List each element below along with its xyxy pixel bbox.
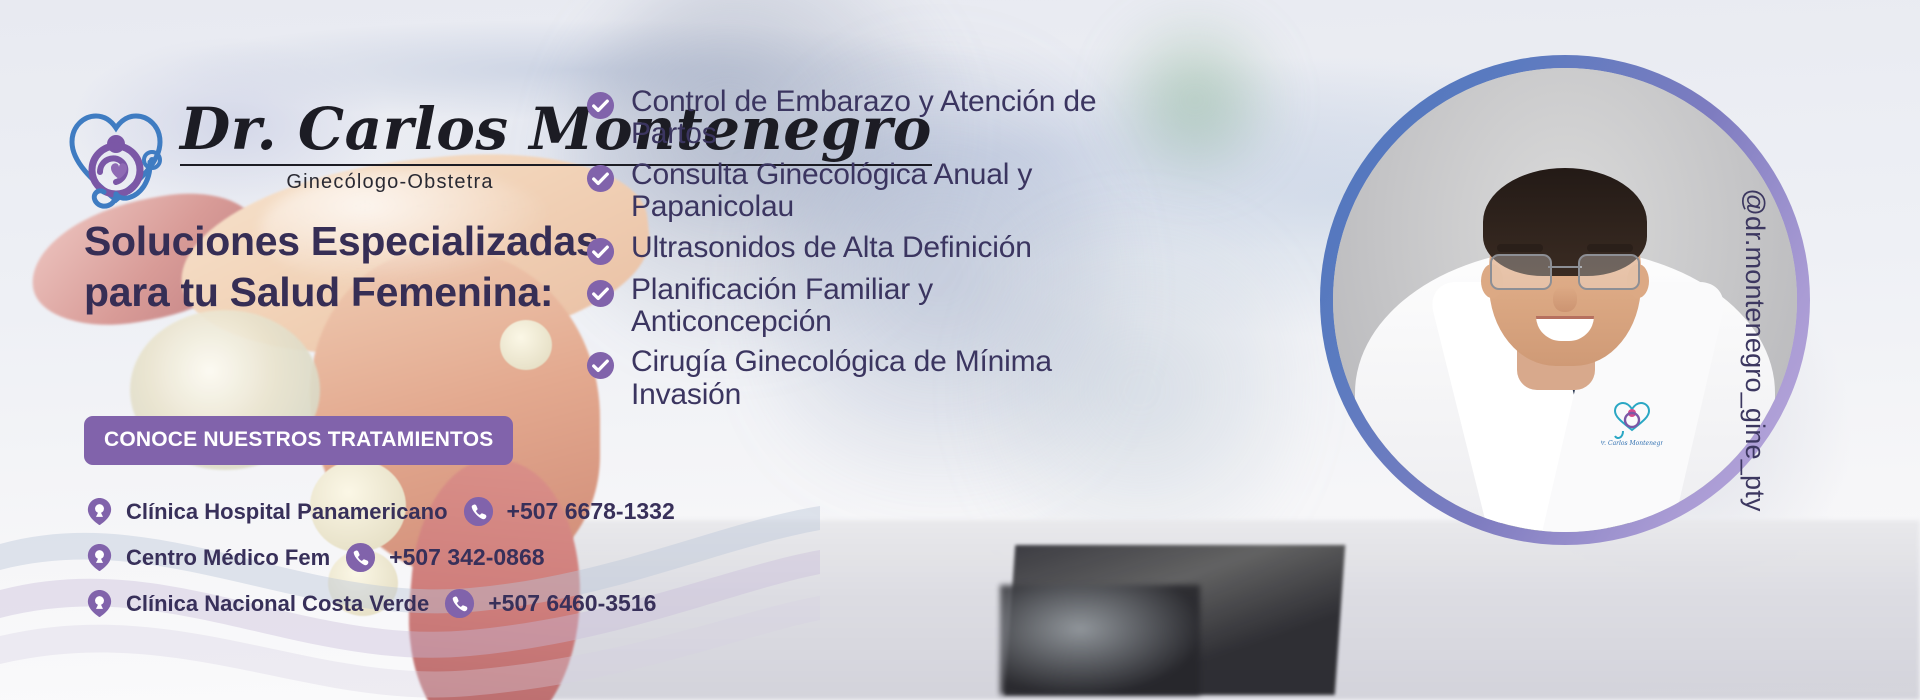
service-label: Cirugía Ginecológica de Mínima Invasión xyxy=(631,346,1126,411)
instagram-handle[interactable]: @dr.montenegro_gine_pty xyxy=(1739,188,1770,511)
contact-phone[interactable]: +507 6678-1332 xyxy=(507,498,675,525)
svg-text:Dr. Carlos Montenegro: Dr. Carlos Montenegro xyxy=(1601,440,1663,447)
contact-list: Clínica Hospital Panamericano +507 6678-… xyxy=(84,495,804,633)
heart-stethoscope-logo-icon xyxy=(62,102,170,214)
headline-line-1: Soluciones Especializadas xyxy=(84,218,598,264)
contact-row[interactable]: Clínica Hospital Panamericano +507 6678-… xyxy=(84,495,804,528)
service-label: Ultrasonidos de Alta Definición xyxy=(631,232,1032,264)
contact-row[interactable]: Centro Médico Fem +507 342-0868 xyxy=(84,541,804,574)
service-item: Cirugía Ginecológica de Mínima Invasión xyxy=(586,346,1126,411)
contact-phone[interactable]: +507 342-0868 xyxy=(389,544,544,571)
service-item: Planificación Familiar y Anticoncepción xyxy=(586,274,1126,339)
service-item: Control de Embarazo y Atención de Partos xyxy=(586,86,1126,151)
service-item: Ultrasonidos de Alta Definición xyxy=(586,232,1126,266)
check-circle-icon xyxy=(586,351,615,380)
cta-button[interactable]: CONOCE NUESTROS TRATAMIENTOS xyxy=(84,416,513,465)
contact-phone[interactable]: +507 6460-3516 xyxy=(488,590,656,617)
avatar: Dr. Carlos Montenegro xyxy=(1333,68,1797,532)
phone-icon xyxy=(443,587,476,620)
map-pin-icon xyxy=(84,496,115,527)
coat-logo-icon: Dr. Carlos Montenegro xyxy=(1601,400,1663,452)
promo-banner: Dr. Carlos Montenegro Ginecólogo-Obstetr… xyxy=(0,0,1920,700)
check-circle-icon xyxy=(586,279,615,308)
contact-place: Centro Médico Fem xyxy=(126,545,330,571)
check-circle-icon xyxy=(586,164,615,193)
check-circle-icon xyxy=(586,237,615,266)
map-pin-icon xyxy=(84,542,115,573)
map-pin-icon xyxy=(84,588,115,619)
service-label: Planificación Familiar y Anticoncepción xyxy=(631,274,1126,339)
service-label: Control de Embarazo y Atención de Partos xyxy=(631,86,1126,151)
headline-line-2: para tu Salud Femenina: xyxy=(84,269,553,315)
services-list: Control de Embarazo y Atención de Partos… xyxy=(586,86,1126,419)
contact-row[interactable]: Clínica Nacional Costa Verde +507 6460-3… xyxy=(84,587,804,620)
page-title: Soluciones Especializadas para tu Salud … xyxy=(84,216,604,318)
phone-icon xyxy=(344,541,377,574)
background-blur-shape xyxy=(1105,0,1285,200)
check-circle-icon xyxy=(586,91,615,120)
brand-specialty: Ginecólogo-Obstetra xyxy=(180,171,600,194)
contact-place: Clínica Nacional Costa Verde xyxy=(126,591,429,617)
eyeglasses-icon xyxy=(1490,254,1640,288)
doctor-portrait-ring: Dr. Carlos Montenegro xyxy=(1320,55,1810,545)
background-ultrasound-scan xyxy=(1000,585,1200,695)
service-label: Consulta Ginecológica Anual y Papanicola… xyxy=(631,159,1126,224)
service-item: Consulta Ginecológica Anual y Papanicola… xyxy=(586,159,1126,224)
contact-place: Clínica Hospital Panamericano xyxy=(126,499,448,525)
phone-icon xyxy=(462,495,495,528)
